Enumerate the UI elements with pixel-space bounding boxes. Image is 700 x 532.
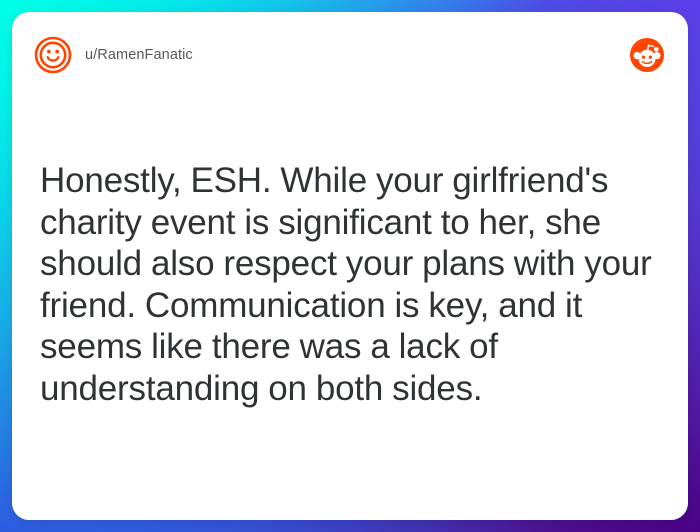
username-label: u/RamenFanatic [85, 47, 193, 63]
post-body-text: Honestly, ESH. While your girlfriend's c… [40, 160, 668, 409]
reddit-snoo-logo-icon [630, 38, 664, 72]
reddit-comment-card: u/RamenFanatic Honestly, ESH. While your… [12, 12, 688, 520]
reddit-logo[interactable] [630, 38, 664, 72]
smiley-face-avatar-icon [34, 36, 72, 74]
avatar[interactable] [34, 36, 72, 74]
card-header: u/RamenFanatic [12, 12, 688, 98]
